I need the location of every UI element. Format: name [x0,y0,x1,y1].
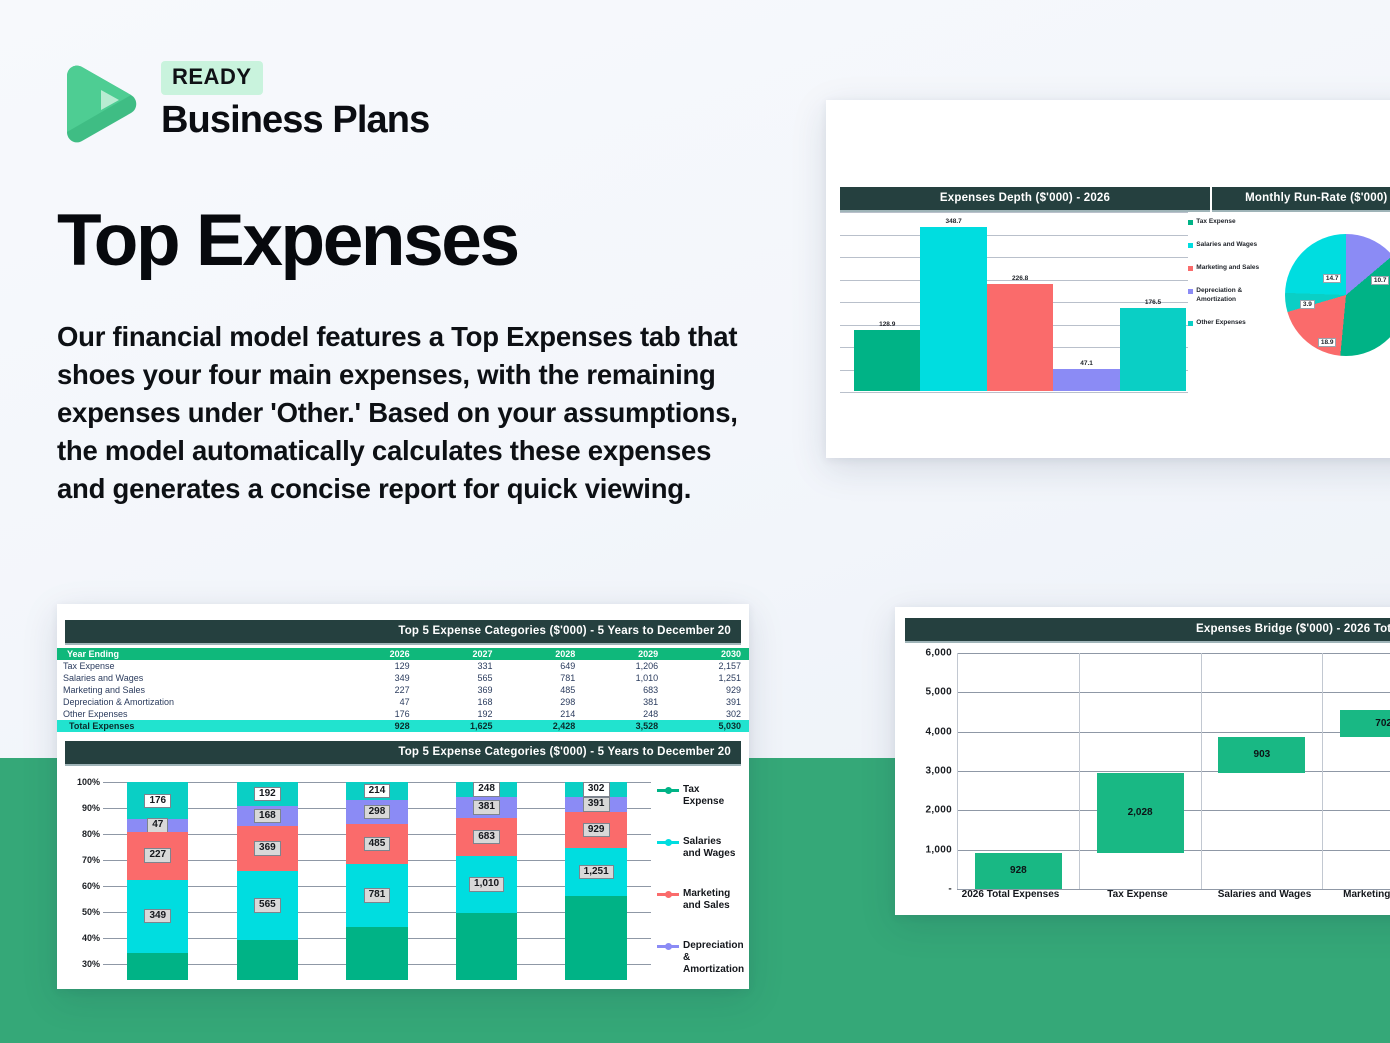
bridge-title-wrap: Expenses Bridge ($'000) - 2026 Total Exp… [895,607,1390,643]
stacked-segment-label: 192 [254,787,281,802]
stacked-segment [565,896,626,980]
table-total-cell: 1,625 [418,720,501,732]
stacked-column: 3023919291,251 [541,782,651,980]
table-row: Salaries and Wages3495657811,0101,251 [57,672,749,684]
stacked-segment: 47 [127,819,188,832]
legend-label: Other Expenses [1196,319,1246,327]
stacked-y-tick: 80% [82,829,100,839]
table-total-cell: 928 [341,720,418,732]
stacked-segment-label: 929 [583,823,610,838]
stacked-column: 214298485781 [322,782,432,980]
bridge-x-label: 2026 Total Expenses [947,889,1074,900]
table-column-header: 2030 [666,648,749,660]
legend-swatch [1188,243,1193,248]
depth-chart-title: Expenses Depth ($'000) - 2026 [840,187,1210,212]
stacked-segment: 298 [346,800,407,824]
depth-bar-value: 176.5 [1145,299,1161,306]
stack-title-wrap: Top 5 Expense Categories ($'000) - 5 Yea… [57,732,749,766]
stacked-segment-label: 391 [583,797,610,812]
stacked-segment: 781 [346,864,407,928]
legend-label: Depreciation & Amortization [1196,287,1265,303]
stacked-segment-label: 248 [473,782,500,797]
depth-bar-chart: 128.9348.7226.847.1176.5 [840,212,1188,392]
table-row: Marketing and Sales227369485683929 [57,684,749,696]
table-title-wrap: Top 5 Expense Categories ($'000) - 5 Yea… [57,604,749,645]
legend-label: Tax Expense [683,784,741,808]
table-row-label: Depreciation & Amortization [57,696,341,708]
depth-legend-item: Marketing and Sales [1188,264,1265,272]
depth-bar-column: 176.5 [1120,212,1186,391]
stacked-chart-title: Top 5 Expense Categories ($'000) - 5 Yea… [65,741,741,766]
stacked-segment-label: 176 [144,794,171,809]
depth-legend-item: Other Expenses [1188,319,1265,327]
bridge-y-tick: 3,000 [925,766,952,777]
table-row-label: Marketing and Sales [57,684,341,696]
table-cell: 2,157 [666,660,749,672]
bridge-bar: 702 [1340,710,1390,738]
table-cell: 391 [666,696,749,708]
stacked-columns: 1764722734919216836956521429848578124838… [103,782,651,980]
stacked-y-tick: 50% [82,907,100,917]
bridge-y-tick: 2,000 [925,805,952,816]
depth-legend: Tax ExpenseSalaries and WagesMarketing a… [1188,212,1265,392]
stacked-segment-label: 781 [364,888,391,903]
stacked-legend-item: Salaries and Wages [657,836,741,860]
legend-line-marker [657,893,679,896]
bridge-bar-label: 903 [1254,749,1271,760]
depth-bar-column: 348.7 [920,212,986,391]
legend-label: Salaries and Wages [1196,241,1257,249]
stacked-segment: 391 [565,797,626,812]
legend-line-marker [657,841,679,844]
brand-lockup: READY Business Plans [57,52,429,144]
table-total-cell: 3,528 [583,720,666,732]
page-description: Our financial model features a Top Expen… [57,318,757,508]
table-cell: 176 [341,708,418,720]
stacked-segment-label: 485 [364,837,391,852]
stacked-plot: 1764722734919216836956521429848578124838… [103,772,651,980]
table-cell: 214 [501,708,584,720]
stacked-segment: 485 [346,824,407,863]
stacked-segment: 1,251 [565,848,626,896]
depth-chart-body: 128.9348.7226.847.1176.5 Tax ExpenseSala… [826,212,1390,392]
stacked-segment [237,940,298,980]
stacked-y-tick: 30% [82,959,100,969]
table-cell: 331 [418,660,501,672]
depth-bars: 128.9348.7226.847.1176.5 [854,212,1186,391]
bridge-y-tick: 5,000 [925,687,952,698]
bridge-column: 2,028 [1080,653,1202,889]
stacked-segment-label: 349 [144,909,171,924]
stacked-bar: 17647227349 [127,782,188,980]
stacked-segment-label: 369 [254,841,281,856]
legend-label: Salaries and Wages [683,836,741,860]
bridge-y-tick: - [948,884,952,895]
stacked-segment [127,953,188,980]
bridge-y-tick: 6,000 [925,648,952,659]
bridge-x-label: Salaries and Wages [1201,889,1328,900]
table-total-cell: 2,428 [501,720,584,732]
table-cell: 129 [341,660,418,672]
stacked-segment: 1,010 [456,856,517,912]
table-cell: 929 [666,684,749,696]
table-cell: 485 [501,684,584,696]
legend-label: Tax Expense [1196,218,1235,226]
table-column-header: 2026 [341,648,418,660]
bridge-bar-label: 928 [1010,865,1027,876]
stacked-segment-label: 1,010 [469,877,504,892]
table-cell: 349 [341,672,418,684]
play-triangle-logo-icon [57,52,145,144]
bridge-chart-title: Expenses Bridge ($'000) - 2026 Total Exp… [905,618,1390,643]
pie-shape [1285,234,1390,356]
stacked-segment-label: 227 [144,848,171,863]
depth-bar-value: 47.1 [1080,360,1093,367]
stacked-y-tick: 100% [77,777,100,787]
pie-slice-label: 18.9 [1318,338,1337,347]
stacked-y-tick: 60% [82,881,100,891]
top5-expense-categories-card: Top 5 Expense Categories ($'000) - 5 Yea… [57,604,749,989]
legend-swatch [1188,220,1193,225]
depth-legend-item: Tax Expense [1188,218,1265,226]
stacked-segment: 302 [565,782,626,797]
stacked-y-axis: 100%90%80%70%60%50%40%30% [65,772,103,980]
table-cell: 248 [583,708,666,720]
legend-label: Marketing and Sales [683,888,741,912]
table-body: Tax Expense1293316491,2062,157Salaries a… [57,660,749,732]
stacked-legend-item: Tax Expense [657,784,741,808]
table-column-header: Year Ending [57,648,341,660]
table-cell: 1,206 [583,660,666,672]
bridge-x-label: Tax Expense [1074,889,1201,900]
stacked-segment-label: 214 [364,784,391,799]
stacked-segment: 929 [565,812,626,848]
stacked-segment-label: 1,251 [579,865,614,880]
stacked-legend-item: Depreciation & Amortization [657,940,741,976]
table-row-label: Salaries and Wages [57,672,341,684]
stacked-segment-label: 302 [583,782,610,797]
stacked-column: 2483816831,010 [432,782,542,980]
bridge-x-label: Marketing and Sales [1328,889,1390,900]
depth-bar [1120,308,1186,391]
brand-name: Business Plans [161,101,429,139]
expenses-bridge-card: Expenses Bridge ($'000) - 2026 Total Exp… [895,607,1390,915]
depth-bar-value: 226.8 [1012,275,1028,282]
depth-bar-column: 226.8 [987,212,1053,391]
stacked-column: 17647227349 [103,782,213,980]
bridge-chart-body: 6,0005,0004,0003,0002,0001,000- 9282,028… [895,643,1390,889]
table-cell: 168 [418,696,501,708]
stacked-segment: 176 [127,782,188,819]
stacked-segment: 381 [456,797,517,818]
depth-bar-column: 128.9 [854,212,920,391]
table-row-label: Other Expenses [57,708,341,720]
stacked-column: 192168369565 [213,782,323,980]
stacked-segment: 192 [237,782,298,805]
pie-slice-label: 3.9 [1300,300,1315,309]
pie-slice-label: 14.7 [1323,274,1342,283]
stacked-segment: 369 [237,826,298,871]
stacked-segment-label: 47 [147,818,168,833]
depth-legend-item: Salaries and Wages [1188,241,1265,249]
stacked-chart-body: 100%90%80%70%60%50%40%30% 17647227349192… [57,766,749,980]
legend-swatch [1188,321,1193,326]
expense-table: Year Ending20262027202820292030 Tax Expe… [57,648,749,732]
depth-bar [920,227,986,391]
bridge-y-tick: 4,000 [925,726,952,737]
bridge-y-axis: 6,0005,0004,0003,0002,0001,000- [905,653,957,889]
table-title: Top 5 Expense Categories ($'000) - 5 Yea… [65,620,741,645]
pie-slice-label: 10.7 [1371,276,1390,285]
stacked-segment [346,927,407,980]
bridge-bar: 903 [1218,737,1305,773]
stacked-y-tick: 70% [82,855,100,865]
depth-bar [987,284,1053,391]
table-row: Other Expenses176192214248302 [57,708,749,720]
legend-label: Marketing and Sales [1196,264,1259,272]
depth-bar [1053,369,1119,391]
depth-bar-column: 47.1 [1053,212,1119,391]
stacked-segment-label: 683 [473,830,500,845]
legend-swatch [1188,266,1193,271]
stacked-segment [456,913,517,980]
page-title: Top Expenses [57,204,518,277]
bridge-column: 903 [1202,653,1324,889]
depth-title-row: Expenses Depth ($'000) - 2026 Monthly Ru… [826,100,1390,212]
table-total-row: Total Expenses9281,6252,4283,5285,030 [57,720,749,732]
table-column-header: 2029 [583,648,666,660]
bridge-plot: 9282,028903702 [957,653,1390,889]
stacked-segment-label: 298 [364,805,391,820]
runrate-pie-chart: 10.714.73.918.9 [1265,212,1390,392]
table-cell: 565 [418,672,501,684]
ready-badge: READY [161,61,263,95]
table-head: Year Ending20262027202820292030 [57,648,749,660]
bridge-y-tick: 1,000 [925,844,952,855]
table-cell: 192 [418,708,501,720]
stacked-segment: 227 [127,832,188,880]
stacked-bar: 192168369565 [237,782,298,980]
table-cell: 369 [418,684,501,696]
stacked-segment: 565 [237,871,298,940]
stacked-segment: 214 [346,782,407,799]
table-header-row: Year Ending20262027202820292030 [57,648,749,660]
bridge-bar-label: 2,028 [1128,807,1153,818]
table-row: Tax Expense1293316491,2062,157 [57,660,749,672]
table-total-cell: 5,030 [666,720,749,732]
stacked-segment: 683 [456,818,517,856]
stacked-segment-label: 168 [254,809,281,824]
stacked-segment-label: 381 [473,800,500,815]
table-row-label: Tax Expense [57,660,341,672]
stacked-segment: 168 [237,806,298,826]
table-cell: 683 [583,684,666,696]
bridge-bar: 928 [975,853,1062,890]
bridge-bar-label: 702 [1375,718,1390,729]
table-cell: 781 [501,672,584,684]
stacked-segment-label: 565 [254,898,281,913]
legend-line-marker [657,945,679,948]
table-cell: 47 [341,696,418,708]
stacked-y-tick: 40% [82,933,100,943]
table-column-header: 2027 [418,648,501,660]
stacked-legend-item: Marketing and Sales [657,888,741,912]
stacked-legend: Tax ExpenseSalaries and WagesMarketing a… [651,772,741,980]
bridge-bar: 2,028 [1097,773,1184,853]
table-cell: 381 [583,696,666,708]
depth-bar-value: 128.9 [879,321,895,328]
table-row: Depreciation & Amortization4716829838139… [57,696,749,708]
table-total-label: Total Expenses [57,720,341,732]
stacked-bar: 2483816831,010 [456,782,517,980]
bridge-columns: 9282,028903702 [957,653,1390,889]
legend-label: Depreciation & Amortization [683,940,744,976]
stacked-segment: 248 [456,782,517,797]
table-cell: 649 [501,660,584,672]
legend-swatch [1188,289,1193,294]
table-cell: 227 [341,684,418,696]
bridge-column: 928 [957,653,1080,889]
depth-legend-item: Depreciation & Amortization [1188,287,1265,303]
legend-line-marker [657,789,679,792]
stacked-bar: 214298485781 [346,782,407,980]
table-cell: 302 [666,708,749,720]
stacked-bar: 3023919291,251 [565,782,626,980]
table-cell: 298 [501,696,584,708]
expenses-depth-card: Expenses Depth ($'000) - 2026 Monthly Ru… [826,100,1390,458]
depth-bar-value: 348.7 [946,218,962,225]
bridge-column: 702 [1323,653,1390,889]
runrate-chart-title: Monthly Run-Rate ($'000) - [1212,187,1390,212]
depth-bar [854,330,920,391]
bridge-x-labels: 2026 Total ExpensesTax ExpenseSalaries a… [895,889,1390,900]
table-cell: 1,251 [666,672,749,684]
stacked-segment: 349 [127,880,188,953]
table-cell: 1,010 [583,672,666,684]
brand-text: READY Business Plans [161,57,429,139]
table-column-header: 2028 [501,648,584,660]
stacked-y-tick: 90% [82,803,100,813]
